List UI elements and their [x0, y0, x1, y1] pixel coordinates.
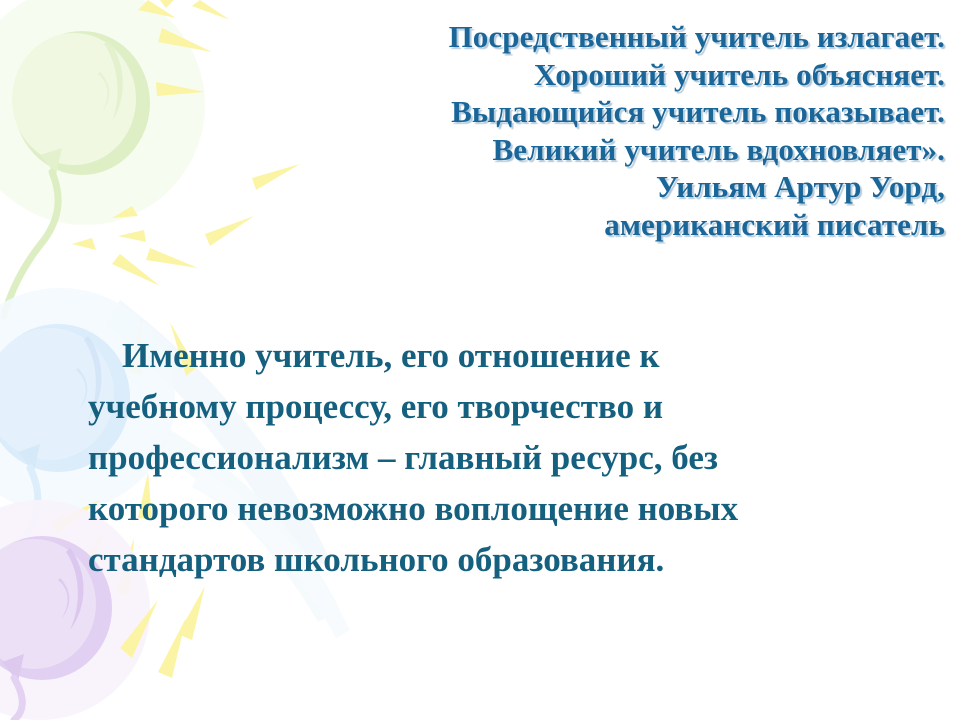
- quote-heading: Посредственный учитель излагает. Хороший…: [300, 18, 945, 243]
- quote-line-3: Выдающийся учитель показывает.: [300, 93, 945, 131]
- quote-attribution-role: американский писатель: [300, 206, 945, 244]
- body-line-5: стандартов школьного образования.: [88, 534, 900, 585]
- body-line-3: профессионализм – главный ресурс, без: [88, 432, 900, 483]
- quote-attribution-name: Уильям Артур Уорд,: [300, 168, 945, 206]
- body-line-1: Именно учитель, его отношение к: [88, 330, 900, 381]
- green-balloon: [0, 0, 205, 316]
- slide-canvas: Посредственный учитель излагает. Хороший…: [0, 0, 960, 720]
- body-paragraph: Именно учитель, его отношение к учебному…: [88, 330, 900, 585]
- body-line-4: которого невозможно воплощение новых: [88, 483, 900, 534]
- sunburst-rays-top: [72, 0, 230, 250]
- body-line-2: учебному процессу, его творчество и: [88, 381, 900, 432]
- quote-line-2: Хороший учитель объясняет.: [300, 56, 945, 94]
- quote-line-4: Великий учитель вдохновляет».: [300, 131, 945, 169]
- quote-line-1: Посредственный учитель излагает.: [300, 18, 945, 56]
